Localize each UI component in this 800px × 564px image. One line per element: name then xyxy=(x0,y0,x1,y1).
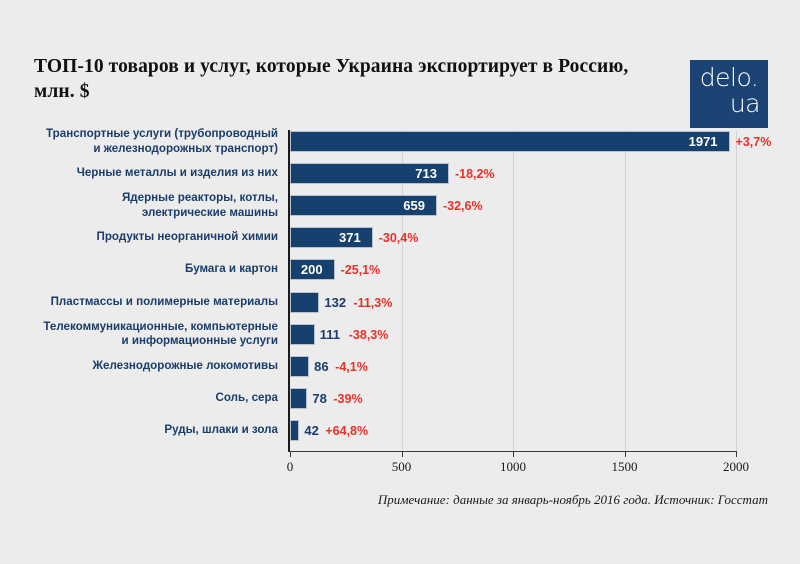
page-title: ТОП-10 товаров и услуг, которые Украина … xyxy=(34,54,634,104)
bar-change-percent: -18,2% xyxy=(455,167,495,181)
bar-value-label: 1971 xyxy=(230,134,724,149)
bar-value-label: 659 xyxy=(230,198,431,213)
bar[interactable] xyxy=(290,420,299,441)
bar[interactable] xyxy=(290,356,309,377)
x-axis-tick-label: 2000 xyxy=(706,459,766,475)
bar-row[interactable]: Телекоммуникационные, компьютерныеи инфо… xyxy=(0,324,800,356)
x-axis-tick-label: 0 xyxy=(260,459,320,475)
bar-change-percent: -11,3% xyxy=(353,296,392,310)
bar[interactable] xyxy=(290,388,307,409)
bar-value-label: 371 xyxy=(230,230,367,245)
x-axis-tick-label: 1000 xyxy=(483,459,543,475)
bar-change-percent: -25,1% xyxy=(341,263,381,277)
bar-chart-plot-area: 0500100015002000 Транспортные услуги (тр… xyxy=(0,128,800,468)
source-note: Примечание: данные за январь-ноябрь 2016… xyxy=(378,492,768,508)
x-axis-tick-label: 500 xyxy=(372,459,432,475)
x-axis-tick-label: 1500 xyxy=(595,459,655,475)
category-label: Пластмассы и полимерные материалы xyxy=(20,295,278,310)
bar-change-percent: -32,6% xyxy=(443,199,483,213)
bar[interactable] xyxy=(290,324,315,345)
bar-row[interactable]: Соль, сера78-39% xyxy=(0,388,800,420)
bar-row[interactable]: Ядерные реакторы, котлы,электрические ма… xyxy=(0,195,800,227)
bar[interactable] xyxy=(290,292,319,313)
delo-ua-logo[interactable]: delo. ua xyxy=(690,60,768,128)
bar-row[interactable]: Бумага и картон200-25,1% xyxy=(0,259,800,291)
bar-row[interactable]: Железнодорожные локомотивы86-4,1% xyxy=(0,356,800,388)
bar-change-percent: -38,3% xyxy=(349,328,389,342)
bar-value-label: 713 xyxy=(230,166,443,181)
bar-row[interactable]: Руды, шлаки и зола42+64,8% xyxy=(0,420,800,452)
logo-text-secondary: ua xyxy=(690,90,760,118)
category-label: Соль, сера xyxy=(20,391,278,406)
bar-change-percent: -30,4% xyxy=(379,231,419,245)
bar-value-label: 200 xyxy=(230,262,329,277)
chart-header: ТОП-10 товаров и услуг, которые Украина … xyxy=(0,0,800,128)
bar-change-percent: -4,1% xyxy=(335,360,368,374)
category-label: Телекоммуникационные, компьютерныеи инфо… xyxy=(20,320,278,349)
infographic-chart: ТОП-10 товаров и услуг, которые Украина … xyxy=(0,0,800,564)
bar-change-percent: -39% xyxy=(333,392,362,406)
bar-change-percent: +3,7% xyxy=(736,135,772,149)
bar-row[interactable]: Продукты неорганичной химии371-30,4% xyxy=(0,227,800,259)
category-label: Руды, шлаки и зола xyxy=(20,423,278,438)
category-label: Железнодорожные локомотивы xyxy=(20,359,278,374)
bar-row[interactable]: Транспортные услуги (трубопроводныйи жел… xyxy=(0,131,800,163)
logo-text-primary: delo. xyxy=(690,64,768,92)
bar-change-percent: +64,8% xyxy=(325,424,368,438)
